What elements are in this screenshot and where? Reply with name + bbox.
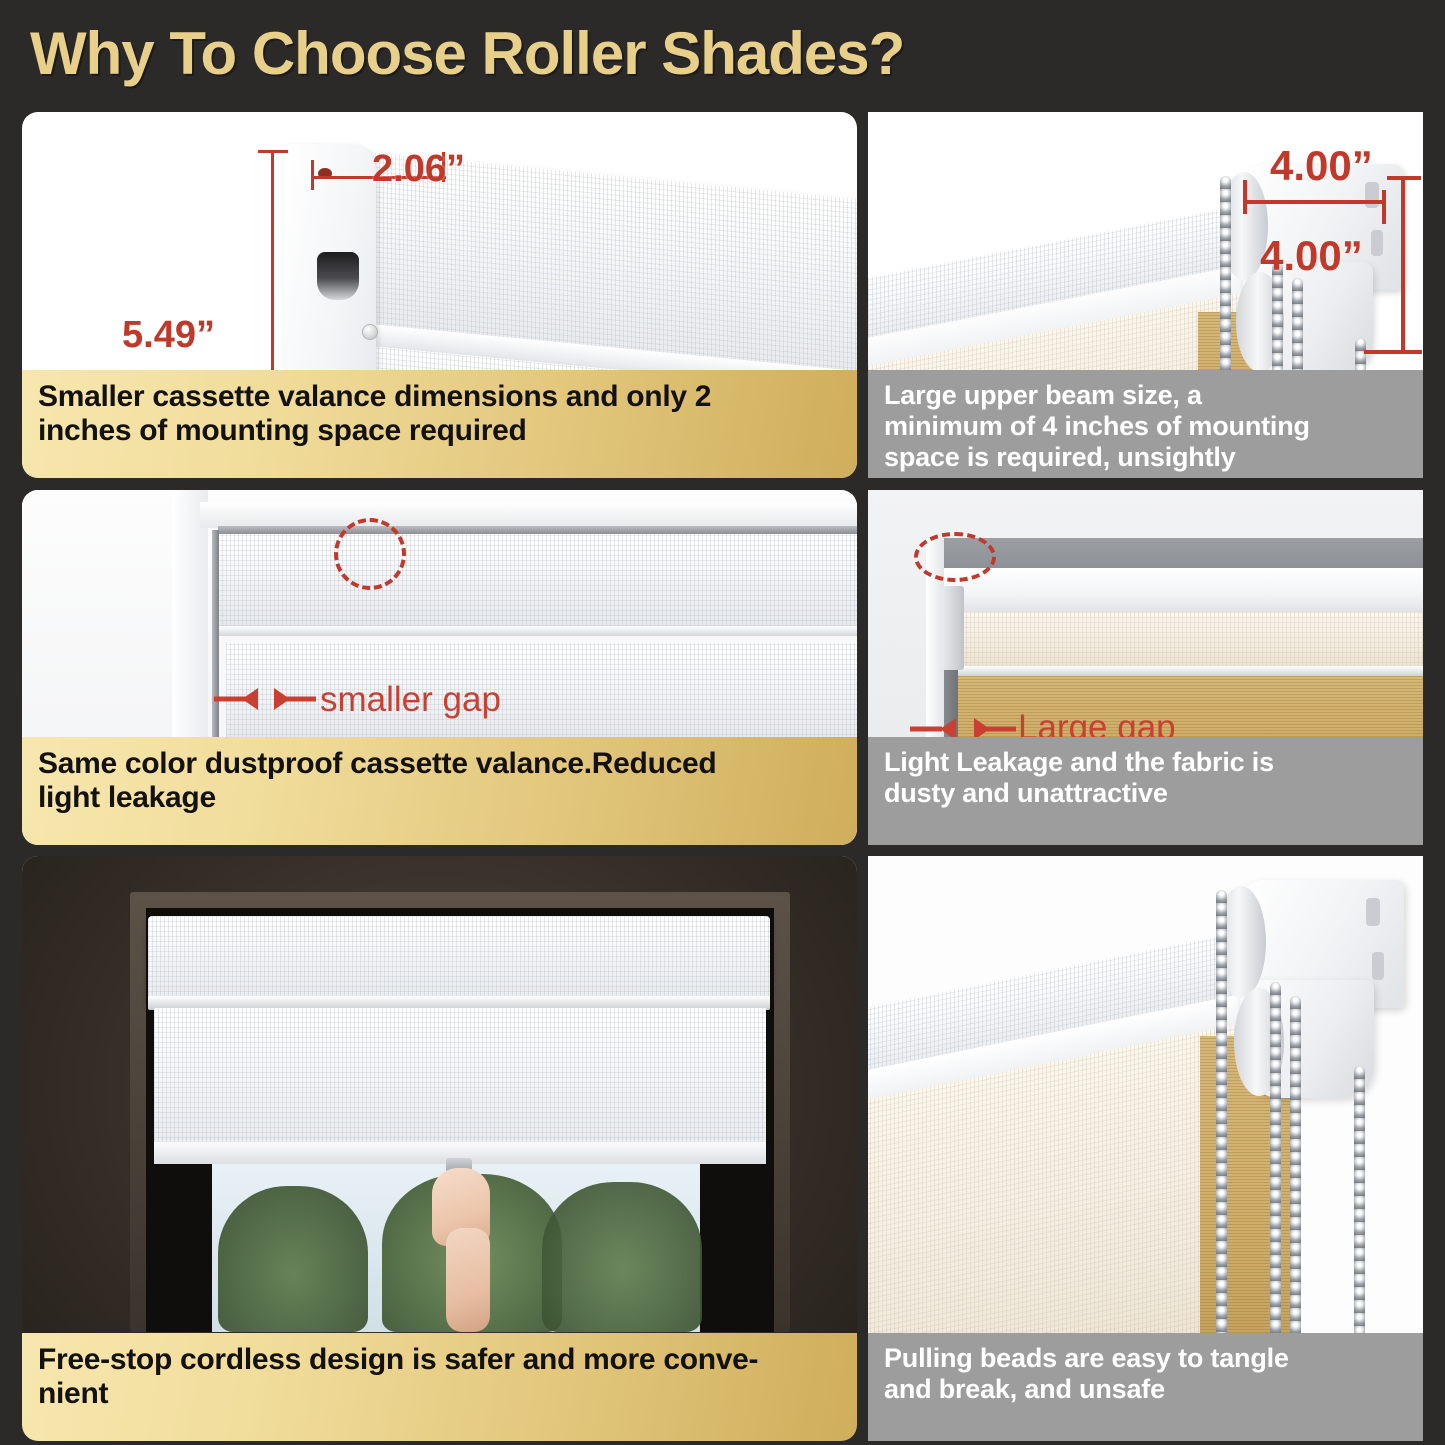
height-dimension-label: 5.49” (122, 314, 215, 357)
roller-tube (928, 568, 1423, 616)
panel-caption: Light Leakage and the fabric is dusty an… (868, 737, 1423, 845)
beam-width-dimension-line (1246, 200, 1386, 204)
bracket-fitting (942, 586, 964, 670)
tree-right (542, 1182, 702, 1332)
cassette-top-edge (218, 526, 857, 534)
bracket-slot-bottom (1371, 230, 1383, 256)
bracket-slot-top (1366, 898, 1380, 926)
gap-label: smaller gap (320, 680, 501, 720)
beam-width-dimension-label: 4.00” (1270, 142, 1373, 190)
panel-caption: Free-stop cordless design is safer and m… (22, 1333, 857, 1441)
beam-height-dimension-line (1401, 176, 1405, 354)
bracket-slot-bottom (1372, 952, 1384, 980)
panel-dustproof-cassette: smaller gap Same color dustproof cassett… (22, 490, 857, 845)
end-cap-screw (362, 324, 378, 340)
panel-caption: Pulling beads are easy to tangle and bre… (868, 1333, 1423, 1441)
gap-highlight-ring (334, 518, 406, 590)
panel-cassette-valance-dimensions: 2.06” 5.49” Smaller cassette valance dim… (22, 112, 857, 478)
fabric-bottom-edge (950, 666, 1423, 676)
bead-chain-1 (1216, 890, 1227, 1360)
bead-chain-2 (1270, 982, 1281, 1362)
height-dimension-tick-top (258, 150, 288, 153)
beam-width-tick-right (1382, 190, 1386, 224)
shade-fabric-cream (950, 612, 1423, 668)
width-dimension-tick-left (311, 160, 314, 190)
page-title: Why To Choose Roller Shades? (30, 14, 1030, 94)
gap-arrows (212, 682, 322, 716)
beam-height-tick-bottom (1364, 350, 1422, 354)
bead-chain-4 (1354, 1066, 1365, 1362)
end-cap-slot (317, 252, 359, 300)
cassette-valance-head (148, 916, 770, 1002)
mounting-shadow-strip (928, 538, 1423, 572)
panel-caption: Smaller cassette valance dimensions and … (22, 370, 857, 478)
panel-caption: Large upper beam size, a minimum of 4 in… (868, 370, 1423, 478)
shade-fabric (154, 1008, 766, 1158)
cassette-lip (218, 626, 857, 636)
panel-large-upper-beam: 4.00” 4.00” Large upper beam size, a min… (868, 112, 1423, 478)
beam-height-tick-top (1387, 176, 1421, 180)
panel-cordless-design: Free-stop cordless design is safer and m… (22, 856, 857, 1441)
bead-chain-3 (1290, 996, 1301, 1362)
beam-width-tick-left (1243, 180, 1247, 214)
panel-light-leakage: Large gap Light Leakage and the fabric i… (868, 490, 1423, 845)
width-dimension-label: 2.06” (372, 148, 465, 191)
panel-caption: Same color dustproof cassette valance.Re… (22, 737, 857, 845)
tree-left (218, 1186, 368, 1332)
hand-forearm (446, 1228, 490, 1332)
beam-height-dimension-label: 4.00” (1260, 232, 1363, 280)
comparison-grid: 2.06” 5.49” Smaller cassette valance dim… (0, 104, 1445, 1445)
panel-pulling-beads: Pulling beads are easy to tangle and bre… (868, 856, 1423, 1441)
cassette-valance-face (218, 534, 857, 626)
window-casing-top (200, 502, 857, 528)
gap-highlight-ring (914, 532, 996, 582)
